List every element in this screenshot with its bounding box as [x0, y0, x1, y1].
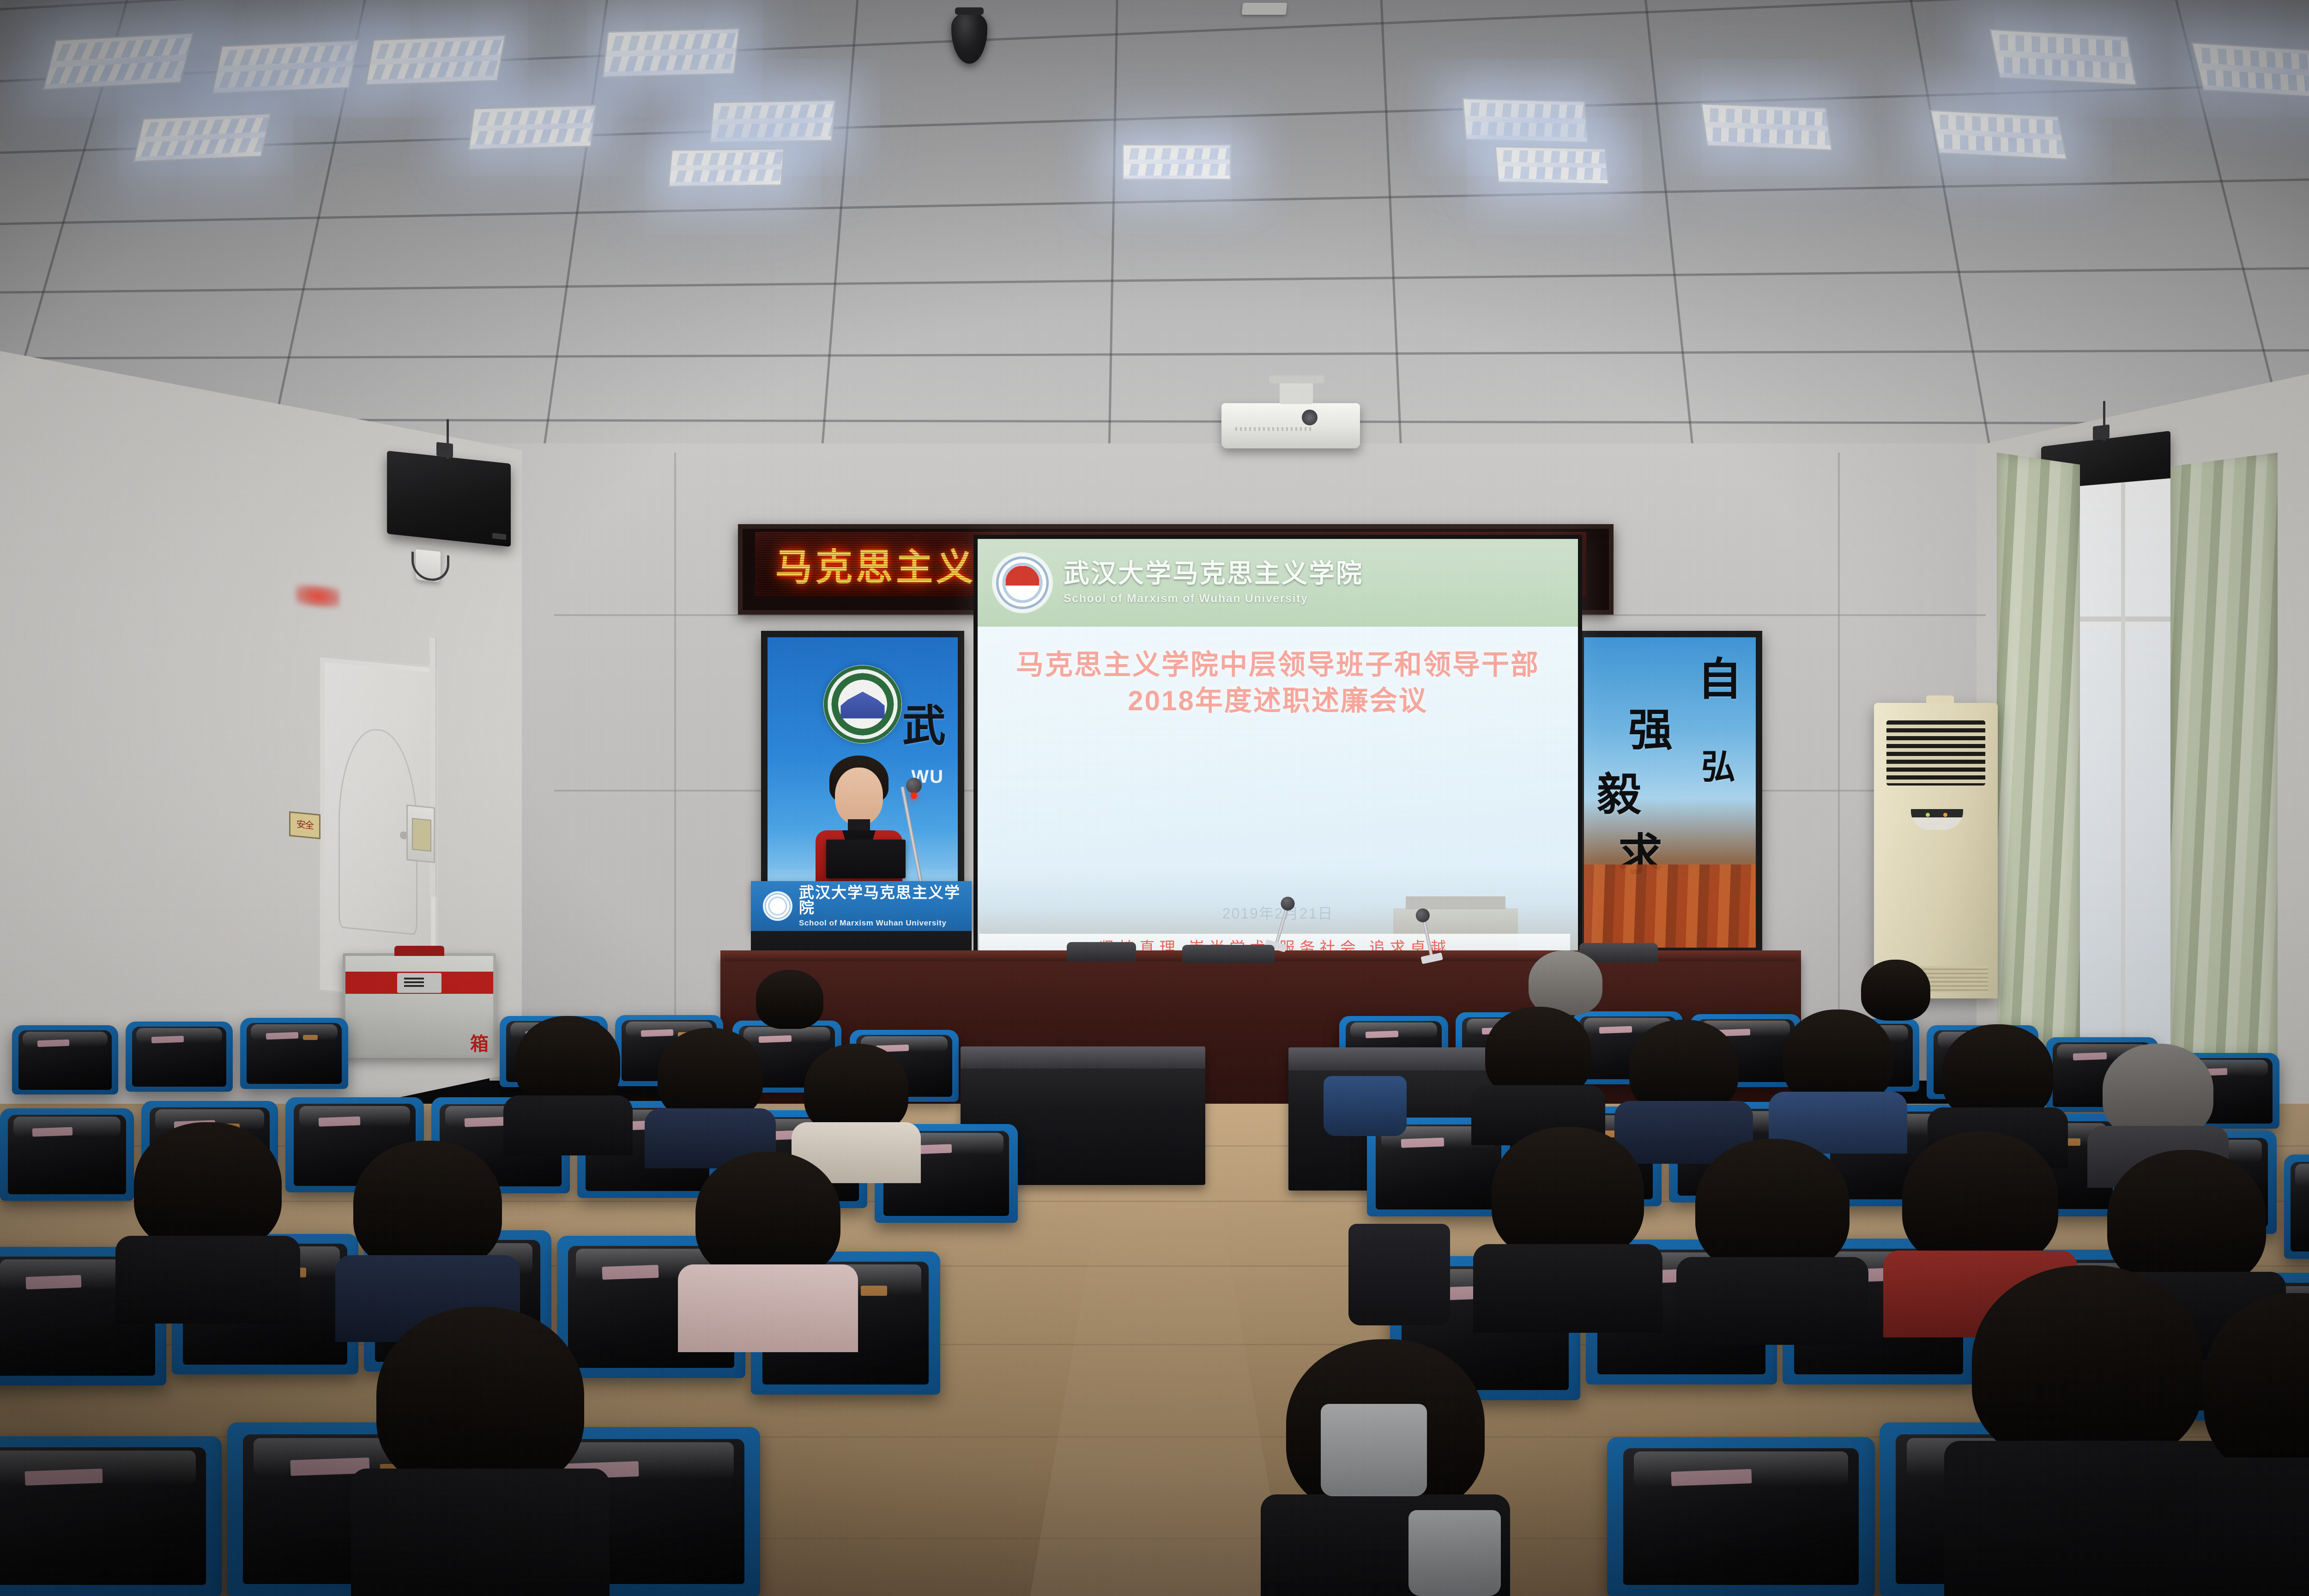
presenter-head	[835, 768, 883, 825]
attendee-head	[1492, 1127, 1644, 1261]
attendee	[351, 1307, 610, 1596]
slide-header-band: 武汉大学马克思主义学院 School of Marxism of Wuhan U…	[978, 539, 1578, 627]
auditorium-seat[interactable]	[126, 1022, 233, 1092]
attendee-head	[695, 1152, 840, 1279]
left-wall-spotlight	[416, 549, 441, 582]
electrical-panel-box[interactable]	[406, 804, 435, 863]
attendee-head	[1942, 1024, 2053, 1121]
seal-book-icon	[1005, 566, 1039, 599]
case-latch-icon[interactable]	[397, 973, 441, 993]
projection-screen-frame: 武汉大学马克思主义学院 School of Marxism of Wuhan U…	[973, 535, 1582, 968]
left-wall-speaker	[387, 451, 511, 547]
auditorium-seat[interactable]	[1607, 1437, 1875, 1596]
ceiling-light-panel	[1930, 109, 2067, 160]
stage-equipment	[1182, 945, 1275, 963]
attendee-head	[1783, 1010, 1893, 1106]
equipment-case[interactable]: 箱	[343, 953, 496, 1058]
attendee	[678, 1152, 858, 1350]
attendee	[645, 1028, 776, 1162]
stage-equipment	[1067, 942, 1136, 961]
podium-nameplate: 武汉大学马克思主义学院 School of Marxism Wuhan Univ…	[751, 881, 972, 931]
podium-seal-icon	[763, 891, 792, 921]
auditorium-seat[interactable]	[0, 1436, 222, 1596]
ac-indicator-amber	[1943, 813, 1947, 817]
attendee-body	[1676, 1257, 1868, 1345]
poster-university-motto: 自 强 弘 毅 求	[1578, 631, 1762, 954]
slide-title-line-2: 2018年度述职述廉会议	[978, 683, 1578, 719]
ceiling-light-panel	[1122, 144, 1231, 180]
suspended-ceiling	[0, 0, 2309, 466]
floor-bag[interactable]	[1324, 1076, 1407, 1136]
auditorium-seat[interactable]	[0, 1108, 134, 1201]
projector-mount	[1280, 382, 1313, 404]
slide-org-name-en: School of Marxism of Wuhan University	[1064, 592, 1363, 605]
ceiling-light-panel	[1462, 98, 1589, 143]
attendee	[1769, 1010, 1907, 1148]
floor-bag[interactable]	[1321, 1404, 1427, 1496]
motto-char-3: 弘	[1701, 753, 1735, 782]
attendee	[115, 1122, 300, 1321]
slide-main-title: 马克思主义学院中层领导班子和领导干部 2018年度述职述廉会议	[978, 647, 1578, 719]
smoke-detector-icon	[1242, 3, 1287, 15]
exit-indicator-light	[296, 584, 340, 609]
attendee-head	[1695, 1139, 1850, 1274]
ceiling-light-panel	[42, 32, 194, 90]
dome-camera-icon	[951, 12, 987, 64]
ac-top-cap	[1926, 695, 1954, 704]
school-seal-icon	[993, 554, 1052, 612]
ceiling-light-panel	[2191, 42, 2309, 99]
attendee-head	[134, 1122, 282, 1251]
floor-bag[interactable]	[1408, 1510, 1501, 1596]
attendee-head	[376, 1307, 584, 1492]
desk-surface	[961, 1046, 1205, 1069]
projector-lens-icon	[1302, 410, 1318, 425]
electrical-panel-window	[412, 818, 431, 851]
attendee-head	[756, 970, 823, 1029]
speaker-bracket	[2093, 424, 2110, 440]
attendee-head	[2204, 1293, 2309, 1478]
slide-org-name-zh: 武汉大学马克思主义学院	[1064, 561, 1363, 586]
podium-laptop[interactable]	[826, 840, 906, 878]
attendee-body	[2198, 1457, 2309, 1596]
attendee-head	[804, 1044, 908, 1135]
window-mullion	[2077, 617, 2174, 622]
ceiling-light-panel	[212, 40, 360, 95]
ac-indicator-green	[1926, 813, 1930, 817]
ceiling-light-panel	[1494, 146, 1609, 185]
attendee-body	[1944, 1441, 2230, 1596]
ceiling-light-panel	[468, 104, 597, 150]
attendee-body	[678, 1264, 858, 1352]
attendee-head	[353, 1141, 502, 1271]
attendee-head	[1972, 1265, 2203, 1464]
speaker-bracket	[436, 442, 453, 458]
attendee-body	[1473, 1244, 1662, 1333]
attendee-body	[351, 1469, 610, 1596]
case-handle[interactable]	[394, 946, 445, 956]
slide-title-line-1: 马克思主义学院中层领导班子和领导干部	[978, 647, 1578, 683]
ceiling-light-panel	[709, 100, 836, 144]
ceiling-projector	[1221, 403, 1360, 448]
attendee-head	[516, 1016, 620, 1108]
attendee	[2198, 1293, 2309, 1596]
poster-autumn-trees-photo	[1584, 864, 1756, 948]
ceiling-light-panel	[1989, 29, 2138, 85]
motto-char-1: 自	[1698, 660, 1742, 699]
attendee	[1676, 1139, 1868, 1342]
projection-screen: 武汉大学马克思主义学院 School of Marxism of Wuhan U…	[978, 539, 1578, 964]
door-warning-sign: 安全	[289, 811, 320, 840]
floor-standing-air-conditioner[interactable]	[1874, 703, 1998, 998]
ceiling-light-panel	[365, 35, 506, 86]
attendee	[1473, 1127, 1662, 1330]
ceiling-light-panel	[1701, 103, 1833, 151]
lecture-hall-photo: 安全 马克思主义学	[0, 0, 2309, 1596]
attendee-body	[503, 1095, 633, 1155]
door-panel-moulding	[338, 725, 417, 935]
podium-microphone-head-icon	[906, 778, 922, 793]
case-label-text: 箱	[470, 1035, 489, 1053]
attendee	[1471, 1007, 1605, 1141]
ceiling-light-panel	[133, 113, 272, 162]
projector-vent	[1235, 427, 1313, 431]
podium-org-zh: 武汉大学马克思主义学院	[799, 885, 972, 915]
podium-org-en: School of Marxism Wuhan University	[799, 919, 972, 928]
attendee-head	[1529, 950, 1602, 1015]
ac-display-panel[interactable]	[1911, 809, 1963, 830]
slide-body: 马克思主义学院中层领导班子和领导干部 2018年度述职述廉会议 2019年2月2…	[978, 627, 1578, 964]
attendee-head	[1902, 1131, 2058, 1267]
ceiling-light-panel	[668, 148, 785, 187]
attendee-body	[115, 1236, 300, 1324]
attendee-head	[658, 1028, 763, 1121]
seal-gate-icon	[840, 692, 884, 719]
floor-bag[interactable]	[1348, 1224, 1450, 1325]
attendee	[503, 1016, 633, 1150]
motto-char-4: 毅	[1597, 776, 1641, 814]
speaker-logo	[492, 533, 506, 540]
motto-char-2: 强	[1628, 711, 1673, 750]
ceiling-light-panel	[602, 28, 740, 78]
attendee	[1944, 1265, 2230, 1596]
wuhan-university-seal-icon	[823, 665, 902, 744]
auditorium-seat[interactable]	[12, 1025, 118, 1094]
auditorium-seat[interactable]	[2284, 1155, 2309, 1259]
microphone-active-led	[911, 792, 917, 799]
auditorium-seat[interactable]	[240, 1018, 348, 1089]
attendee-head	[2103, 1044, 2213, 1139]
ac-grille-icon	[1886, 720, 1985, 786]
poster-calligraphy: 武	[902, 707, 946, 746]
